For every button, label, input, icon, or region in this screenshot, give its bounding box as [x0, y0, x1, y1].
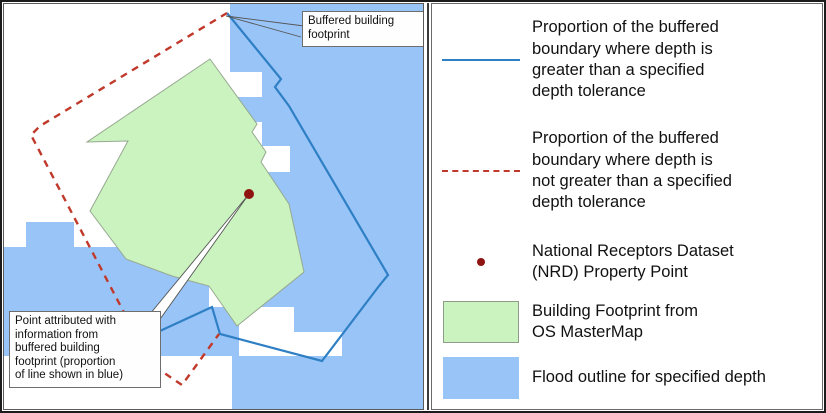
green-swatch-icon [443, 301, 519, 343]
callout-line: information from [15, 329, 156, 343]
legend-label-line: depth tolerance [532, 81, 719, 102]
figure-root: Buffered building footprint Point attrib… [0, 0, 826, 413]
legend-item-depth-not-greater: Proportion of the buffered boundary wher… [432, 121, 824, 221]
legend-label: Building Footprint from OS MasterMap [530, 301, 698, 344]
solid-blue-line-icon [442, 59, 520, 61]
dashed-red-line-icon [442, 170, 520, 172]
flood-polygon-notch-top [230, 4, 294, 44]
legend-label-line: Proportion of the buffered [532, 17, 719, 38]
legend-key-wrapper [432, 234, 530, 290]
legend-label-line: boundary where depth is [532, 150, 732, 171]
legend-label-line: Flood outline for specified depth [532, 367, 766, 388]
dark-red-dot-icon [477, 258, 485, 266]
callout-buffered-building-footprint: Buffered building footprint [302, 11, 424, 47]
legend-item-depth-greater: Proportion of the buffered boundary wher… [432, 10, 824, 110]
legend-item-building-footprint: Building Footprint from OS MasterMap [432, 294, 824, 350]
map-panel: Buffered building footprint Point attrib… [3, 3, 424, 410]
callout-line: Point attributed with [15, 315, 156, 329]
callout-line: footprint (proportion [15, 356, 156, 370]
callout-line: buffered building [15, 342, 156, 356]
callout-line: Buffered building [308, 15, 419, 29]
legend-item-flood-outline: Flood outline for specified depth [432, 354, 824, 402]
callout-point-attributed: Point attributed with information from b… [9, 311, 161, 388]
legend-label-line: (NRD) Property Point [532, 262, 734, 283]
legend-label-line: not greater than a specified [532, 171, 732, 192]
legend-key-wrapper [432, 10, 530, 110]
legend-label-line: Proportion of the buffered [532, 128, 732, 149]
legend-label-line: depth tolerance [532, 192, 732, 213]
legend-key-wrapper [432, 294, 530, 350]
legend-label-line: OS MasterMap [532, 322, 698, 343]
legend-key-wrapper [432, 121, 530, 221]
legend-item-nrd-point: National Receptors Dataset (NRD) Propert… [432, 234, 824, 290]
legend-label: National Receptors Dataset (NRD) Propert… [530, 241, 734, 284]
callout-line: footprint [308, 29, 419, 43]
blue-swatch-icon [443, 357, 519, 399]
legend-label: Proportion of the buffered boundary wher… [530, 17, 719, 103]
legend-panel: Proportion of the buffered boundary wher… [431, 3, 823, 410]
legend-label-line: National Receptors Dataset [532, 241, 734, 262]
panel-divider [427, 3, 429, 410]
legend-label: Proportion of the buffered boundary wher… [530, 128, 732, 214]
legend-label-line: boundary where depth is [532, 39, 719, 60]
callout-line: of line shown in blue) [15, 369, 156, 383]
legend-label: Flood outline for specified depth [530, 367, 766, 388]
nrd-property-point [244, 189, 254, 199]
legend-key-wrapper [432, 354, 530, 402]
legend-label-line: Building Footprint from [532, 301, 698, 322]
legend-label-line: greater than a specified [532, 60, 719, 81]
